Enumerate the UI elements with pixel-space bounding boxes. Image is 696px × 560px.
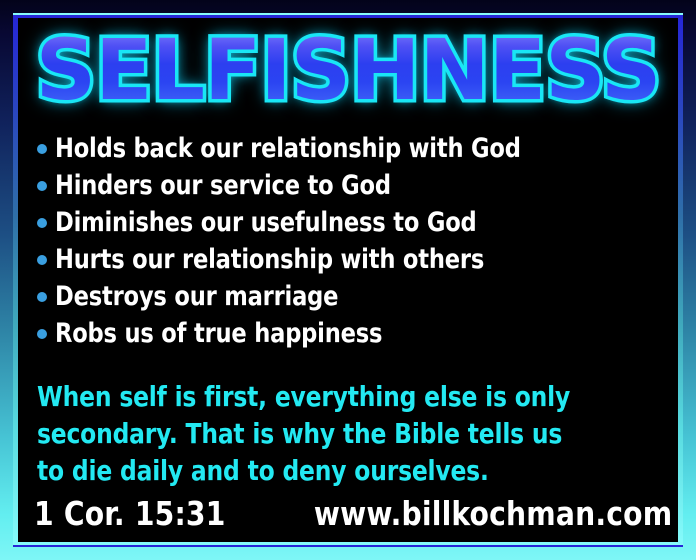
list-item-label: Robs us of true happiness	[55, 319, 382, 349]
list-item: Hurts our relationship with others	[18, 241, 678, 278]
bullet-dot-icon	[37, 218, 47, 228]
statement-line: secondary. That is why the Bible tells u…	[37, 415, 632, 452]
selfishness-effects-list: Holds back our relationship with God Hin…	[18, 130, 678, 352]
list-item-label: Hurts our relationship with others	[55, 245, 484, 275]
list-item-label: Hinders our service to God	[55, 171, 391, 201]
website-url: www.billkochman.com	[314, 494, 672, 534]
poster-frame: SELFISHNESS SELFISHNESS Holds back our r…	[0, 0, 696, 560]
statement-block: When self is first, everything else is o…	[37, 378, 677, 489]
bullet-dot-icon	[37, 144, 47, 154]
list-item-label: Destroys our marriage	[55, 282, 338, 312]
list-item: Destroys our marriage	[18, 278, 678, 315]
bullet-dot-icon	[37, 292, 47, 302]
list-item: Holds back our relationship with God	[18, 130, 678, 167]
list-item: Hinders our service to God	[18, 167, 678, 204]
statement-line: When self is first, everything else is o…	[37, 378, 632, 415]
page-title: SELFISHNESS SELFISHNESS	[18, 20, 678, 124]
statement-line: to die daily and to deny ourselves.	[37, 452, 632, 489]
bullet-dot-icon	[37, 255, 47, 265]
list-item-label: Diminishes our usefulness to God	[55, 208, 477, 238]
poster-content-area: SELFISHNESS SELFISHNESS Holds back our r…	[18, 18, 678, 542]
list-item-label: Holds back our relationship with God	[55, 134, 521, 164]
list-item: Robs us of true happiness	[18, 315, 678, 352]
list-item: Diminishes our usefulness to God	[18, 204, 678, 241]
bullet-dot-icon	[37, 329, 47, 339]
footer: 1 Cor. 15:31 www.billkochman.com	[18, 488, 678, 540]
page-title-fill-layer: SELFISHNESS	[18, 20, 678, 120]
bullet-dot-icon	[37, 181, 47, 191]
scripture-reference: 1 Cor. 15:31	[34, 494, 226, 534]
